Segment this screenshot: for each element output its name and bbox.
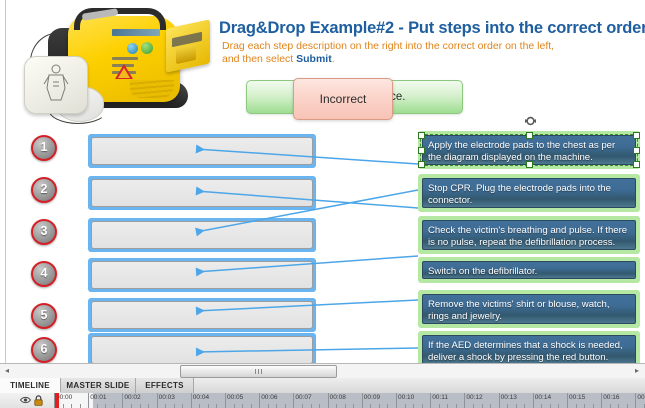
drop-zone-4[interactable] [88,258,316,292]
timeline-tick [362,393,363,408]
timeline-subtick [447,404,448,408]
timeline-panel[interactable]: 00:0000:0100:0200:0300:0400:0500:0600:07… [0,393,645,408]
pad-torso-diagram-icon [42,64,70,104]
timeline-subtick [302,404,303,408]
timeline-subtick [516,404,517,408]
step-marker-4: 4 [31,261,57,287]
timeline-subtick [216,404,217,408]
answer-card-2-frame[interactable]: Stop CPR. Plug the electrode pads into t… [418,174,640,212]
timeline-subtick [576,404,577,408]
timeline-subtick [353,404,354,408]
timeline-tick [328,393,329,408]
drop-zone-1[interactable] [88,134,316,168]
timeline-ruler[interactable]: 00:0000:0100:0200:0300:0400:0500:0600:07… [54,393,645,408]
timeline-subtick [507,404,508,408]
drop-zone-6-surface[interactable] [91,336,313,363]
answer-card-6-frame[interactable]: If the AED determines that a shock is ne… [418,331,640,363]
answer-card-6[interactable]: If the AED determines that a shock is ne… [422,335,636,363]
timeline-subtick [174,404,175,408]
timeline-tick [293,393,294,408]
timeline-subtick [276,404,277,408]
timeline-tick [88,393,89,408]
timeline-tick-label: 00:13 [501,394,517,401]
timeline-tick-label: 00:05 [227,394,243,401]
timeline-tick-label: 00:16 [603,394,619,401]
eye-icon[interactable] [20,396,31,404]
timeline-tick [157,393,158,408]
timeline-tick-label: 00:11 [432,394,448,401]
answer-card-2[interactable]: Stop CPR. Plug the electrode pads into t… [422,178,636,208]
drop-zone-2[interactable] [88,176,316,210]
aed-text-line [112,57,138,60]
answer-card-4[interactable]: Switch on the defibrillator. [422,261,636,279]
timeline-subtick [148,404,149,408]
step-marker-3: 3 [31,219,57,245]
timeline-subtick [63,404,64,408]
timeline-tick [499,393,500,408]
timeline-subtick [610,404,611,408]
timeline-subtick [524,404,525,408]
aed-brand-label [112,29,160,36]
timeline-subtick [490,404,491,408]
timeline-subtick [558,404,559,408]
timeline-subtick [80,404,81,408]
aed-blue-indicator [127,43,138,54]
timeline-subtick [319,404,320,408]
timeline-subtick [627,404,628,408]
timeline-subtick [379,404,380,408]
scroll-left-arrow-icon[interactable]: ◂ [2,366,12,376]
answer-card-1-frame[interactable]: Apply the electrode pads to the chest as… [418,131,640,169]
timeline-playhead[interactable] [55,393,59,408]
timeline-subtick [584,404,585,408]
answer-card-1[interactable]: Apply the electrode pads to the chest as… [422,135,636,165]
timeline-tick-label: 00:09 [364,394,380,401]
timeline-subtick [413,404,414,408]
incorrect-feedback-banner[interactable]: Incorrect [293,78,393,120]
step-marker-5: 5 [31,303,57,329]
timeline-tick-label: 00:03 [159,394,175,401]
subtitle-line-1: Drag each step description on the right … [222,40,554,52]
timeline-tick [122,393,123,408]
step-marker-2: 2 [31,177,57,203]
timeline-subtick [285,404,286,408]
answer-card-5-frame[interactable]: Remove the victims' shirt or blouse, wat… [418,290,640,328]
timeline-subtick [199,404,200,408]
answer-card-5[interactable]: Remove the victims' shirt or blouse, wat… [422,294,636,324]
rotate-handle-icon[interactable] [524,116,537,127]
timeline-subtick [182,404,183,408]
aed-green-indicator [141,42,153,54]
timeline-subtick [268,404,269,408]
timeline-tick [635,393,636,408]
answer-card-4-frame[interactable]: Switch on the defibrillator. [418,257,640,283]
timeline-subtick [482,404,483,408]
timeline-subtick [336,404,337,408]
drop-zone-1-surface[interactable] [91,137,313,165]
timeline-subtick [439,404,440,408]
drop-zone-3[interactable] [88,218,316,252]
timeline-subtick [234,404,235,408]
timeline-subtick [242,404,243,408]
step-marker-1: 1 [31,135,57,161]
timeline-subtick [618,404,619,408]
timeline-subtick [541,404,542,408]
timeline-tick [259,393,260,408]
timeline-subtick [251,404,252,408]
timeline-tick-label: 00:08 [330,394,346,401]
tab-master-slide[interactable]: MASTER SLIDE [61,378,136,393]
timeline-subtick [422,404,423,408]
timeline-subtick [114,404,115,408]
timeline-subtick [345,404,346,408]
timeline-subtick [97,404,98,408]
timeline-tick-label: 00:02 [124,394,140,401]
drop-zone-5-surface[interactable] [91,301,313,329]
page-subtitle: Drag each step description on the right … [222,40,622,65]
tab-effects[interactable]: EFFECTS [136,378,194,393]
timeline-tick [225,393,226,408]
aed-warning-triangle-inner [118,68,130,78]
timeline-subtick [71,404,72,408]
timeline-subtick [473,404,474,408]
submit-keyword: Submit [296,53,332,65]
timeline-subtick [405,404,406,408]
scrollbar-thumb[interactable] [180,365,337,378]
drop-zone-2-surface[interactable] [91,179,313,207]
timeline-tick [191,393,192,408]
timeline-subtick [387,404,388,408]
timeline-subtick [593,404,594,408]
incorrect-feedback-text: Incorrect [294,79,392,119]
tab-timeline[interactable]: TIMELINE [0,378,61,393]
scrollbar-thumb-grip [255,369,264,374]
timeline-tick [430,393,431,408]
timeline-tick [601,393,602,408]
timeline-tick [567,393,568,408]
timeline-subtick [456,404,457,408]
timeline-subtick [105,404,106,408]
canvas-left-edge-rule [5,0,6,363]
timeline-tick-label: 00:10 [398,394,414,401]
drop-zone-4-surface[interactable] [91,261,313,289]
timeline-tick-label: 00:01 [90,394,106,401]
answer-card-3[interactable]: Check the victim's breathing and pulse. … [422,220,636,250]
timeline-subtick [131,404,132,408]
timeline-subtick [165,404,166,408]
timeline-subtick [140,404,141,408]
timeline-tick-label: 00:17 [637,394,645,401]
step-marker-6: 6 [31,337,57,363]
answer-card-3-frame[interactable]: Check the victim's breathing and pulse. … [418,216,640,254]
timeline-subtick [311,404,312,408]
timeline-tick-label: 00:14 [535,394,551,401]
timeline-subtick [370,404,371,408]
timeline-tick-label: 00:06 [261,394,277,401]
timeline-tick-label: 00:04 [193,394,209,401]
timeline-subtick [550,404,551,408]
drop-zone-5[interactable] [88,298,316,332]
timeline-tick [464,393,465,408]
timeline-tick [533,393,534,408]
drop-zone-3-surface[interactable] [91,221,313,249]
timeline-gutter [0,393,55,408]
timeline-tick-label: 00:12 [466,394,482,401]
timeline-tick [396,393,397,408]
subtitle-line-2-prefix: and then select [222,53,296,65]
aed-defibrillator-image[interactable] [8,2,208,122]
scroll-right-arrow-icon[interactable]: ▸ [632,366,642,376]
subtitle-line-2-suffix: . [332,53,335,65]
lock-icon[interactable] [34,395,43,406]
drop-zone-6[interactable] [88,333,316,363]
page-title: Drag&Drop Example#2 - Put steps into the… [219,19,639,38]
bottom-tab-bar: TIMELINE MASTER SLIDE EFFECTS [0,378,645,394]
horizontal-scrollbar[interactable]: ◂ ▸ [0,363,645,379]
timeline-subtick [208,404,209,408]
timeline-tick-label: 00:07 [295,394,311,401]
timeline-tick-label: 00:15 [569,394,585,401]
presentation-editor-window: Drag&Drop Example#2 - Put steps into the… [0,0,645,408]
aed-vent-grille [130,80,174,98]
slide-canvas[interactable]: Drag&Drop Example#2 - Put steps into the… [0,0,645,363]
